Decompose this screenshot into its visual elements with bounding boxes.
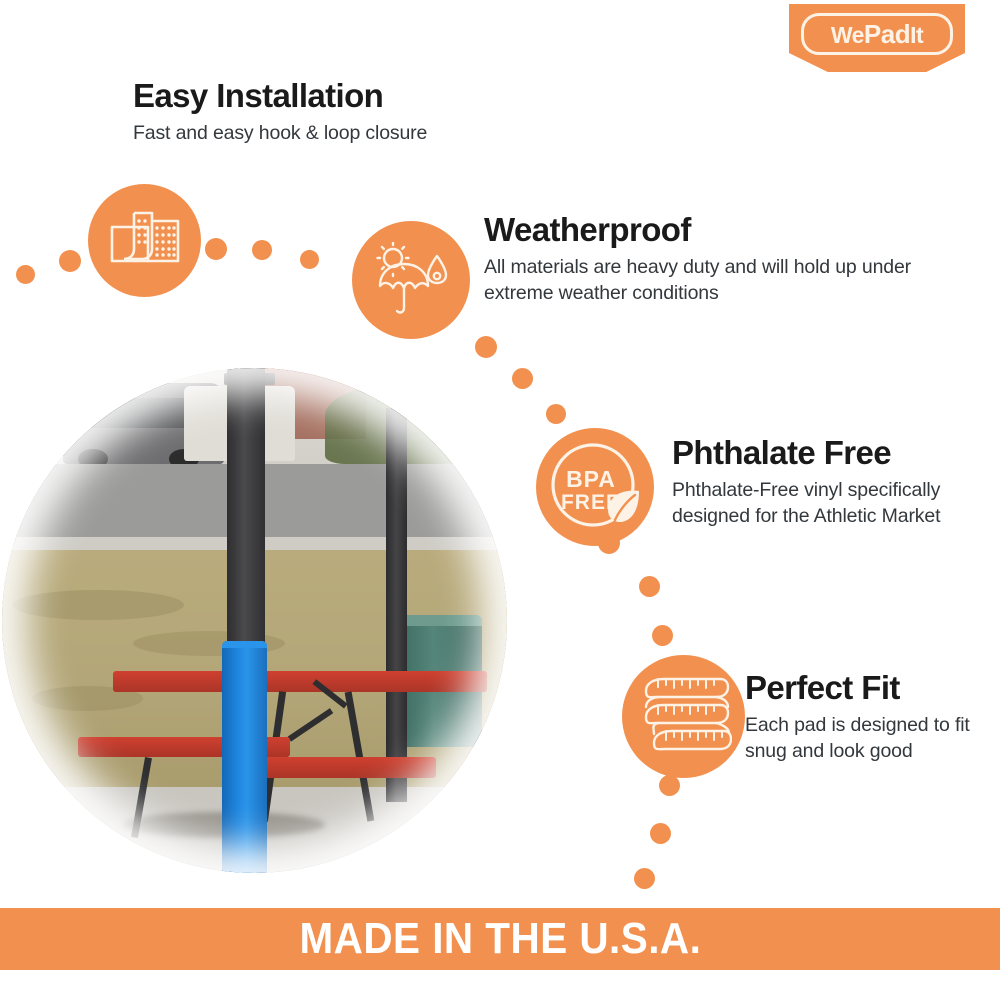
feature-title: Phthalate Free bbox=[672, 435, 972, 471]
photo-picnic-table-top bbox=[113, 671, 487, 692]
trail-dot bbox=[475, 336, 497, 358]
trail-dot bbox=[634, 868, 655, 889]
logo-text: WePadIt bbox=[831, 21, 923, 47]
feature-title: Weatherproof bbox=[484, 212, 914, 248]
trail-dot bbox=[512, 368, 533, 389]
made-in-usa-banner: MADE IN THE U.S.A. bbox=[0, 908, 1000, 970]
hook-and-loop-peel-icon bbox=[88, 184, 201, 297]
trail-dot bbox=[546, 404, 566, 424]
feature-perfect-fit: Perfect Fit Each pad is designed to fit … bbox=[745, 670, 995, 764]
photo-bench bbox=[255, 757, 437, 778]
feature-description: Fast and easy hook & loop closure bbox=[133, 120, 563, 146]
trail-dot bbox=[639, 576, 660, 597]
trail-dot bbox=[205, 238, 227, 260]
feature-phthalate-free: Phthalate Free Phthalate-Free vinyl spec… bbox=[672, 435, 972, 529]
feature-weatherproof: Weatherproof All materials are heavy dut… bbox=[484, 212, 914, 306]
trail-dot bbox=[659, 775, 680, 796]
trail-dot bbox=[252, 240, 272, 260]
photo-scene bbox=[2, 368, 507, 873]
trail-dot bbox=[300, 250, 319, 269]
feature-description: Each pad is designed to fit snug and loo… bbox=[745, 712, 995, 765]
made-in-usa-text: MADE IN THE U.S.A. bbox=[299, 914, 701, 964]
logo-frame: WePadIt bbox=[801, 13, 953, 55]
trail-dot bbox=[650, 823, 671, 844]
logo-text-we: We bbox=[831, 22, 864, 48]
bpa-icon-line1: BPA bbox=[566, 466, 616, 492]
photo-blue-pole-pad bbox=[222, 641, 267, 873]
photo-post-main bbox=[227, 368, 265, 651]
photo-hedge bbox=[325, 383, 507, 464]
logo-text-it: It bbox=[910, 22, 923, 48]
feature-description: All materials are heavy duty and will ho… bbox=[484, 254, 914, 307]
measuring-tape-icon bbox=[622, 655, 745, 778]
sun-umbrella-raindrop-icon bbox=[352, 221, 470, 339]
trail-dot bbox=[652, 625, 673, 646]
infographic-page: WePadIt bbox=[0, 0, 1000, 987]
bpa-free-leaf-icon: BPA FREE bbox=[536, 428, 654, 546]
feature-description: Phthalate-Free vinyl specifically design… bbox=[672, 477, 972, 530]
logo-text-pad: Pad bbox=[864, 19, 910, 49]
feature-title: Easy Installation bbox=[133, 78, 563, 114]
trail-dot bbox=[16, 265, 35, 284]
product-photo bbox=[2, 368, 507, 873]
feature-easy-installation: Easy Installation Fast and easy hook & l… bbox=[133, 78, 563, 146]
photo-post-secondary bbox=[386, 408, 407, 802]
trail-dot bbox=[59, 250, 81, 272]
brand-logo[interactable]: WePadIt bbox=[789, 4, 965, 72]
feature-title: Perfect Fit bbox=[745, 670, 995, 706]
